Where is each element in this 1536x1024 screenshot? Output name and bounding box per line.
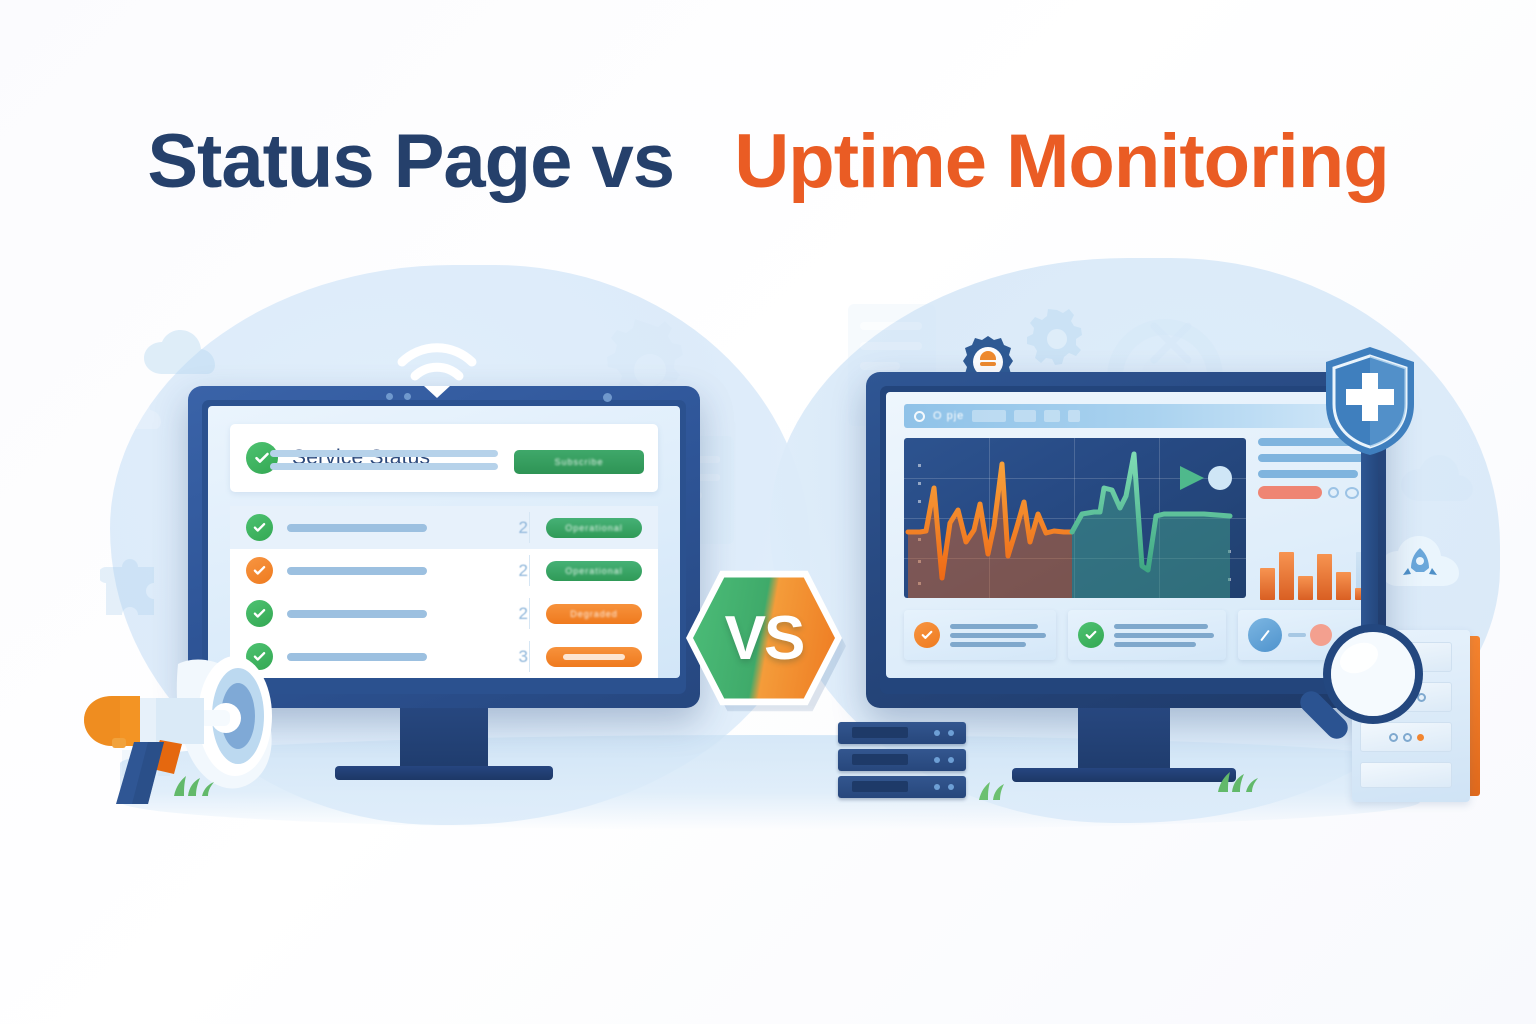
bar	[1317, 554, 1332, 600]
monitor-neck	[1078, 708, 1170, 772]
row-divider	[529, 512, 530, 543]
magnifier-icon	[1287, 612, 1437, 772]
row-divider	[529, 598, 530, 629]
rocket-cloud-icon	[1378, 528, 1462, 607]
status-badge: Degraded	[546, 604, 642, 624]
status-led-icon	[934, 730, 940, 736]
chart-series-svg	[904, 438, 1246, 598]
monitor-base	[1012, 768, 1236, 782]
page-title: Status Page vs Uptime Monitoring	[0, 118, 1536, 205]
gear-icon	[1022, 304, 1092, 374]
page-title-primary: Status Page vs	[147, 119, 674, 204]
gauge-icon	[1248, 618, 1282, 652]
monitor-base	[335, 766, 553, 780]
check-circle-icon	[1078, 622, 1104, 648]
skeleton-line	[950, 624, 1038, 629]
row-label-skeleton	[287, 524, 427, 532]
metric-rings-row	[1258, 486, 1366, 499]
check-circle-icon	[246, 514, 273, 541]
gauge-needle-icon	[1260, 629, 1270, 640]
card-skeleton-lines	[1114, 620, 1216, 651]
server-unit	[838, 722, 966, 744]
bar	[1336, 572, 1351, 600]
table-row[interactable]: 2 Operational	[230, 549, 658, 592]
circle-icon	[1328, 487, 1339, 498]
skeleton-line	[270, 463, 498, 470]
skeleton-line	[1114, 633, 1214, 638]
browser-address-bar[interactable]: O pje	[904, 404, 1348, 428]
server-slot	[852, 781, 908, 792]
skeleton-line	[950, 633, 1046, 638]
grass-icon	[975, 778, 1019, 805]
header-skeleton-lines	[270, 450, 498, 470]
row-divider	[529, 641, 530, 672]
status-badge-fill	[563, 654, 625, 660]
row-count: 2	[519, 518, 528, 538]
subscribe-button[interactable]: Subscribe	[514, 450, 644, 474]
url-text: O pje	[933, 410, 964, 422]
skeleton-line	[270, 450, 498, 457]
status-card[interactable]	[1068, 610, 1226, 660]
check-circle-icon	[246, 600, 273, 627]
response-time-chart[interactable]	[904, 438, 1246, 598]
subscribe-button-label: Subscribe	[554, 457, 603, 467]
status-led-icon	[948, 757, 954, 763]
server-slot	[852, 727, 908, 738]
camera-dot-icon	[603, 393, 612, 402]
status-led-icon	[948, 730, 954, 736]
vs-badge-label: VS	[725, 603, 804, 674]
status-badge-label: Operational	[565, 523, 623, 533]
shield-pole	[1361, 430, 1378, 630]
status-badge-label: Operational	[565, 566, 623, 576]
status-badge: Operational	[546, 561, 642, 581]
page-title-accent: Uptime Monitoring	[734, 119, 1388, 204]
monitor-neck	[400, 708, 488, 770]
status-badge	[546, 647, 642, 667]
check-circle-icon	[914, 622, 940, 648]
status-card[interactable]	[904, 610, 1056, 660]
skeleton-line	[1114, 642, 1196, 647]
alert-bar	[1258, 486, 1322, 499]
row-divider	[529, 555, 530, 586]
url-skeleton-segment	[1044, 410, 1060, 422]
camera-dot-icon	[386, 393, 393, 400]
cloud-icon	[1398, 455, 1488, 511]
close-icon	[1146, 318, 1196, 368]
grass-icon	[1212, 768, 1266, 797]
card-skeleton-lines	[950, 620, 1046, 651]
server-unit	[838, 776, 966, 798]
table-row[interactable]: 2 Operational	[230, 506, 658, 549]
status-led-icon	[948, 784, 954, 790]
row-label-skeleton	[287, 567, 427, 575]
puzzle-icon	[100, 545, 178, 617]
bar	[1298, 576, 1313, 600]
server-stack-icon	[838, 722, 974, 800]
shield-plus-icon	[1322, 345, 1418, 457]
skeleton-line	[1258, 470, 1358, 478]
server-slot	[852, 754, 908, 765]
row-count: 2	[519, 604, 528, 624]
illustration-canvas: Status Page vs Uptime Monitoring	[0, 0, 1536, 1024]
url-skeleton-segment	[1068, 410, 1080, 422]
status-badge-label: Degraded	[570, 609, 618, 619]
row-count: 2	[519, 561, 528, 581]
incident-bar-chart[interactable]	[1258, 544, 1366, 600]
bar	[1260, 568, 1275, 600]
row-label-skeleton	[287, 610, 427, 618]
cloud-icon	[140, 330, 230, 384]
server-unit	[838, 749, 966, 771]
circle-icon	[914, 411, 925, 422]
status-led-icon	[934, 757, 940, 763]
circle-icon	[1345, 487, 1359, 499]
url-skeleton-segment	[1014, 410, 1036, 422]
skeleton-line	[1114, 624, 1208, 629]
bar	[1279, 552, 1294, 600]
wifi-icon	[396, 340, 478, 407]
status-badge: Operational	[546, 518, 642, 538]
check-circle-icon	[246, 557, 273, 584]
row-count: 3	[519, 647, 528, 667]
cloud-icon	[104, 395, 174, 437]
url-skeleton-segment	[972, 410, 1006, 422]
grass-icon	[168, 772, 222, 801]
status-led-icon	[934, 784, 940, 790]
vs-badge: VS	[686, 568, 852, 718]
skeleton-line	[950, 642, 1026, 647]
